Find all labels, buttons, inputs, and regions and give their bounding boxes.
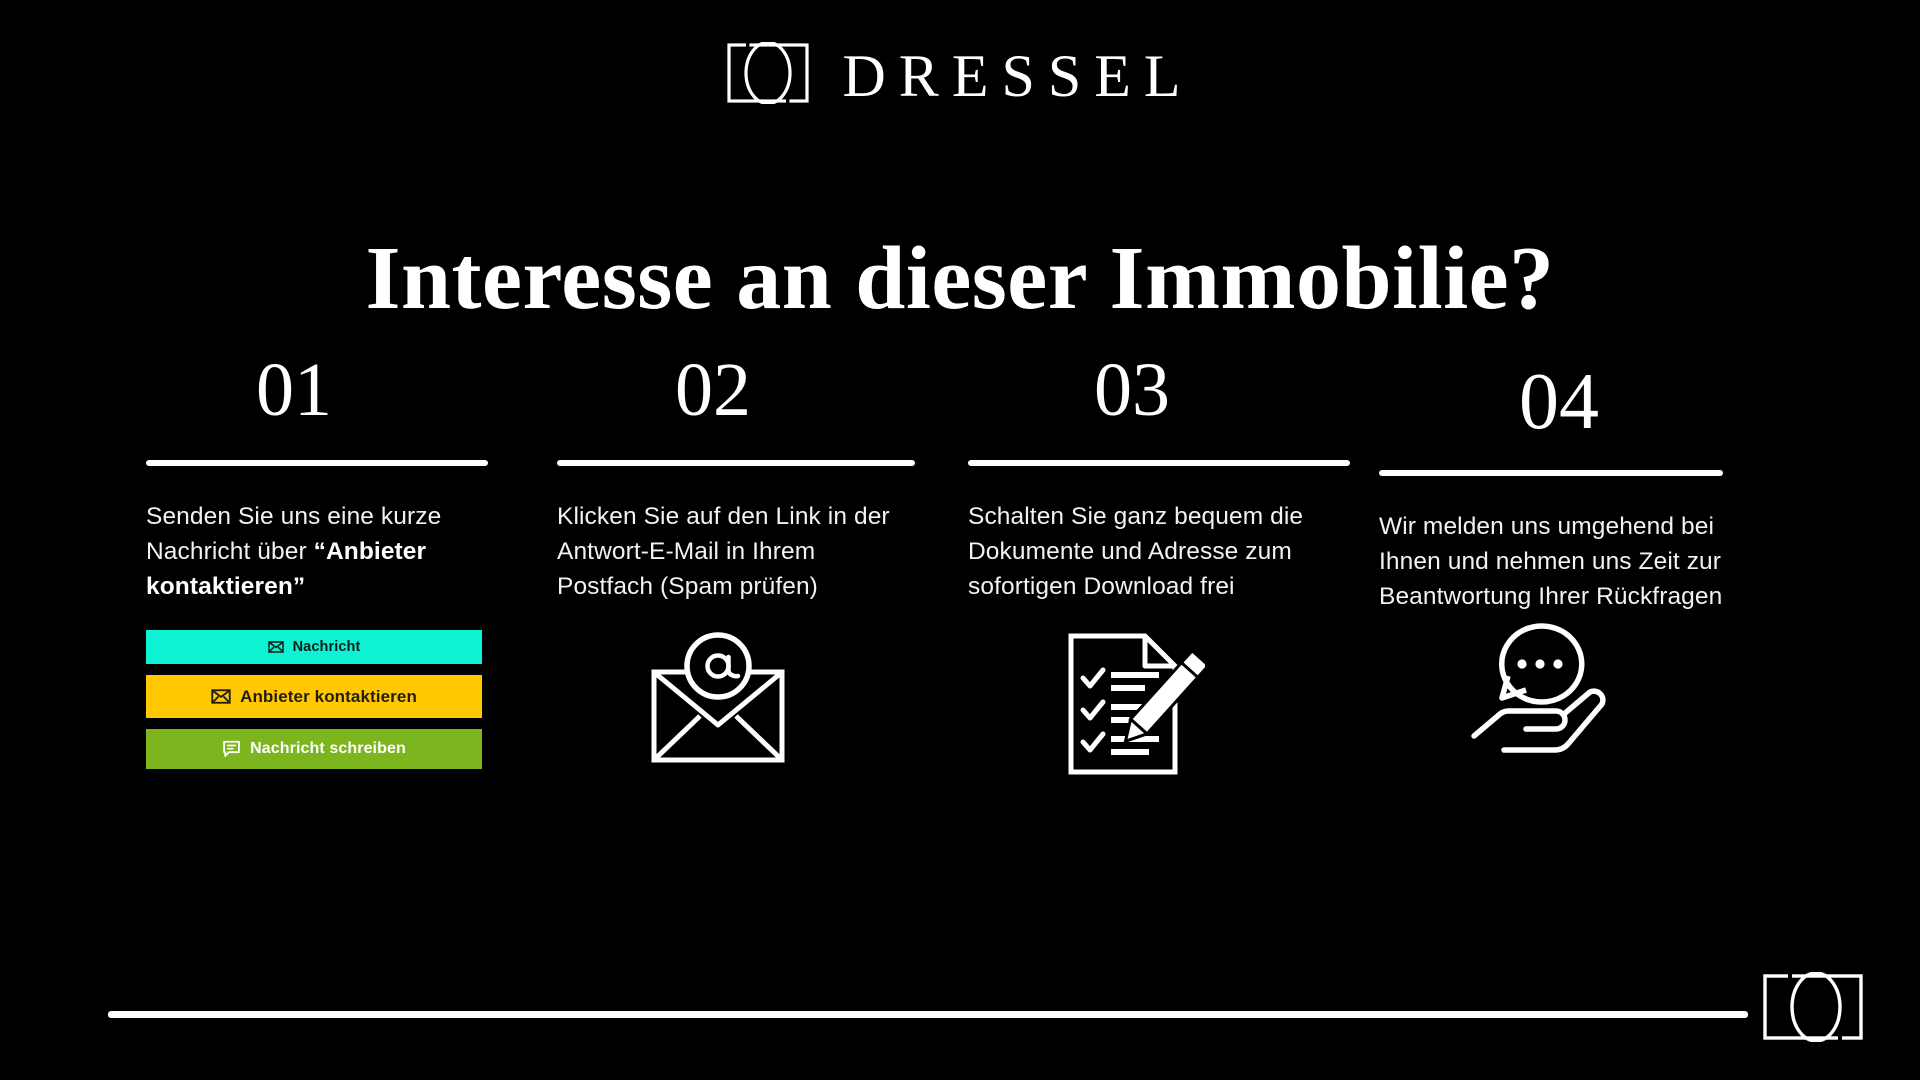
step-divider: [1379, 470, 1723, 476]
step-media: [968, 630, 1308, 800]
envelope-at-icon: [640, 630, 796, 775]
nachricht-button[interactable]: Nachricht: [146, 630, 482, 664]
brand-header: DRESSEL: [0, 42, 1920, 109]
step-description: Schalten Sie ganz bequem die Dokumente u…: [968, 500, 1320, 604]
anbieter-kontaktieren-button-label: Anbieter kontaktieren: [240, 687, 417, 707]
footer-divider: [108, 1011, 1748, 1018]
step-divider: [146, 460, 488, 466]
message-icon: [222, 740, 241, 758]
step-number: 03: [968, 352, 1308, 438]
step-divider: [557, 460, 915, 466]
step-04: 04 Wir melden uns umgehend bei Ihnen und…: [1379, 352, 1719, 800]
step-media: [557, 630, 897, 800]
step-02: 02 Klicken Sie auf den Link in der Antwo…: [557, 352, 897, 800]
nachricht-button-label: Nachricht: [293, 639, 361, 655]
checklist-pen-icon: [1053, 630, 1205, 783]
step-description: Klicken Sie auf den Link in der Antwort-…: [557, 500, 909, 604]
step-01: 01 Senden Sie uns eine kurze Nachricht ü…: [146, 352, 486, 800]
steps-row: 01 Senden Sie uns eine kurze Nachricht ü…: [146, 352, 1774, 800]
footer-monogram: [1762, 972, 1870, 1047]
step-media: Nachricht Anbieter kontaktieren: [146, 630, 486, 800]
nachricht-schreiben-button-label: Nachricht schreiben: [250, 740, 406, 758]
step-number: 02: [557, 352, 897, 438]
envelope-icon: [211, 689, 231, 704]
step-divider: [968, 460, 1350, 466]
step-number: 04: [1379, 352, 1719, 448]
envelope-icon: [268, 641, 284, 653]
step-number: 01: [146, 352, 486, 438]
step-media: [1379, 618, 1719, 788]
anbieter-kontaktieren-button[interactable]: Anbieter kontaktieren: [146, 675, 482, 718]
step-03: 03 Schalten Sie ganz bequem die Dokument…: [968, 352, 1308, 800]
step-description: Wir melden uns umgehend bei Ihnen und ne…: [1379, 510, 1725, 614]
brand-wordmark: DRESSEL: [836, 46, 1193, 106]
page-title: Interesse an dieser Immobilie?: [0, 232, 1920, 327]
dressel-monogram-icon: [726, 42, 810, 109]
speech-bubble-hand-icon: [1464, 618, 1616, 763]
dressel-monogram-icon: [1762, 1029, 1870, 1046]
step-description: Senden Sie uns eine kurze Nachricht über…: [146, 500, 498, 604]
nachricht-schreiben-button[interactable]: Nachricht schreiben: [146, 729, 482, 769]
cta-button-stack: Nachricht Anbieter kontaktieren: [146, 630, 482, 769]
